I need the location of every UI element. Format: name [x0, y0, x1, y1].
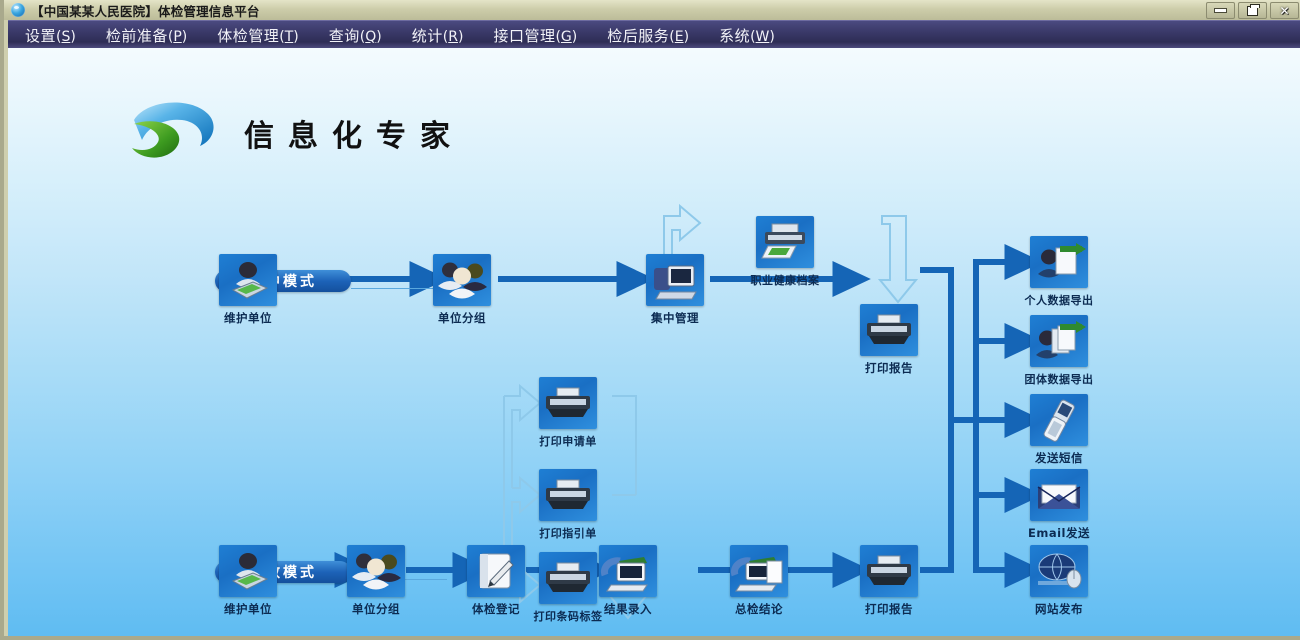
menu-item-settings[interactable]: 设置(S)	[12, 23, 89, 48]
node-label: 集中管理	[651, 310, 699, 326]
globe-mouse-icon	[1030, 545, 1088, 597]
desktop-computer-icon	[646, 254, 704, 306]
node-label: 打印指引单	[539, 525, 597, 541]
minimize-button[interactable]	[1206, 2, 1235, 19]
computer-report-icon	[730, 545, 788, 597]
menu-bar: 设置(S) 检前准备(P) 体检管理(T) 查询(Q) 统计(R) 接口管理(G…	[8, 20, 1300, 49]
printer-icon	[539, 469, 597, 521]
node-label: 团体数据导出	[1025, 371, 1094, 387]
menu-item-system[interactable]: 系统(W)	[706, 23, 788, 48]
menu-accesskey: S	[61, 29, 70, 45]
node-label: 总检结论	[735, 601, 783, 617]
node-label: 单位分组	[352, 601, 400, 617]
menu-item-exam-management[interactable]: 体检管理(T)	[204, 23, 312, 48]
window-controls: ✕	[1206, 2, 1299, 19]
menu-item-post-exam-service[interactable]: 检后服务(E)	[594, 23, 702, 48]
user-card-icon	[219, 545, 277, 597]
envelope-icon	[1030, 469, 1088, 521]
menu-label: 检前准备	[106, 27, 168, 45]
printer-icon	[860, 545, 918, 597]
close-button[interactable]: ✕	[1270, 2, 1299, 19]
menu-label: 查询	[329, 27, 360, 45]
menu-item-query[interactable]: 查询(Q)	[316, 23, 395, 48]
node-print-application[interactable]: 打印申请单	[539, 377, 597, 449]
node-unit-group-bottom[interactable]: 单位分组	[347, 545, 405, 617]
menu-item-interface-management[interactable]: 接口管理(G)	[480, 23, 590, 48]
people-group-icon	[347, 545, 405, 597]
workflow-canvas: 信息化专家	[8, 48, 1300, 636]
menu-accesskey: W	[756, 29, 770, 45]
node-result-entry[interactable]: 结果录入	[599, 545, 657, 617]
people-group-icon	[433, 254, 491, 306]
menu-label: 检后服务	[607, 27, 669, 45]
menu-accesskey: R	[448, 29, 458, 45]
clipboard-pen-icon	[467, 545, 525, 597]
node-label: 打印条码标签	[534, 608, 603, 624]
node-maintain-unit-bottom[interactable]: 维护单位	[219, 545, 277, 617]
node-website-publish[interactable]: 网站发布	[1030, 545, 1088, 617]
node-label: 发送短信	[1035, 450, 1083, 466]
node-maintain-unit-top[interactable]: 维护单位	[219, 254, 277, 326]
printer-icon	[860, 304, 918, 356]
node-unit-group-top[interactable]: 单位分组	[433, 254, 491, 326]
node-exam-register[interactable]: 体检登记	[467, 545, 525, 617]
node-label: 体检登记	[472, 601, 520, 617]
node-label: 结果录入	[604, 601, 652, 617]
node-email-send[interactable]: Email发送	[1030, 469, 1088, 541]
node-label: 个人数据导出	[1025, 292, 1094, 308]
menu-label: 系统	[719, 27, 750, 45]
menu-label: 设置	[25, 27, 56, 45]
node-centralized-manage[interactable]: 集中管理	[646, 254, 704, 326]
title-bar: 【中国某某人民医院】体检管理信息平台 ✕	[4, 0, 1300, 20]
user-card-icon	[219, 254, 277, 306]
node-group-data-export[interactable]: 团体数据导出	[1030, 315, 1088, 387]
node-label: Email发送	[1028, 525, 1090, 541]
node-send-sms[interactable]: 发送短信	[1030, 394, 1088, 466]
application-window: 【中国某某人民医院】体检管理信息平台 ✕ 设置(S) 检前准备(P) 体检管理(…	[0, 0, 1300, 640]
menu-label: 统计	[412, 27, 443, 45]
printer-document-icon	[756, 216, 814, 268]
menu-label: 接口管理	[493, 27, 555, 45]
menu-accesskey: G	[561, 29, 572, 45]
node-print-guide[interactable]: 打印指引单	[539, 469, 597, 541]
menu-item-pre-exam-prep[interactable]: 检前准备(P)	[93, 23, 200, 48]
computer-input-icon	[599, 545, 657, 597]
node-label: 维护单位	[224, 310, 272, 326]
node-label: 打印申请单	[539, 433, 597, 449]
app-globe-icon	[11, 3, 25, 17]
window-title: 【中国某某人民医院】体检管理信息平台	[31, 1, 260, 20]
node-label: 打印报告	[865, 601, 913, 617]
node-occupational-health[interactable]: 职业健康档案	[756, 216, 814, 288]
person-export-icon	[1030, 236, 1088, 288]
menu-accesskey: Q	[365, 29, 376, 45]
node-label: 维护单位	[224, 601, 272, 617]
menu-accesskey: T	[285, 29, 294, 45]
node-label: 网站发布	[1035, 601, 1083, 617]
node-final-conclusion[interactable]: 总检结论	[730, 545, 788, 617]
node-personal-data-export[interactable]: 个人数据导出	[1030, 236, 1088, 308]
restore-button[interactable]	[1238, 2, 1267, 19]
group-export-icon	[1030, 315, 1088, 367]
node-print-barcode[interactable]: 打印条码标签	[539, 552, 597, 624]
node-label: 单位分组	[438, 310, 486, 326]
menu-accesskey: P	[173, 29, 181, 45]
printer-icon	[539, 377, 597, 429]
menu-item-statistics[interactable]: 统计(R)	[399, 23, 477, 48]
menu-accesskey: E	[675, 29, 684, 45]
menu-label: 体检管理	[217, 27, 279, 45]
mobile-phone-icon	[1030, 394, 1088, 446]
node-label: 打印报告	[865, 360, 913, 376]
printer-icon	[539, 552, 597, 604]
node-print-report-bottom[interactable]: 打印报告	[860, 545, 918, 617]
node-label: 职业健康档案	[751, 272, 820, 288]
node-print-report-top[interactable]: 打印报告	[860, 304, 918, 376]
